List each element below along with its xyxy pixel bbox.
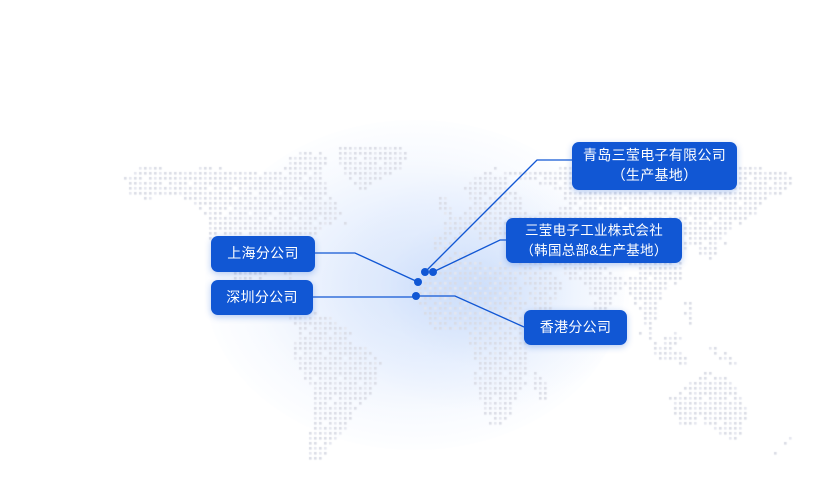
korea-label-line2: （韩国总部&生产基地） bbox=[520, 241, 667, 260]
korea-label-line1: 三莹电子工业株式会社 bbox=[525, 221, 663, 240]
shanghai-branch-label[interactable]: 上海分公司 bbox=[211, 236, 315, 272]
qingdao-label-line1: 青岛三莹电子有限公司 bbox=[583, 146, 726, 166]
hongkong-label-line1: 香港分公司 bbox=[540, 318, 612, 338]
korea-headquarters-label[interactable]: 三莹电子工业株式会社 （韩国总部&生产基地） bbox=[506, 218, 682, 263]
shenzhen-label-line1: 深圳分公司 bbox=[226, 288, 298, 308]
qingdao-office-label[interactable]: 青岛三莹电子有限公司 （生产基地） bbox=[572, 142, 737, 190]
hongkong-branch-label[interactable]: 香港分公司 bbox=[524, 310, 627, 345]
qingdao-label-line2: （生产基地） bbox=[612, 166, 698, 186]
connector-lines-layer bbox=[0, 0, 824, 480]
connector-shanghai bbox=[315, 253, 418, 282]
connector-korea bbox=[433, 240, 506, 272]
shenzhen-branch-label[interactable]: 深圳分公司 bbox=[211, 280, 313, 315]
shanghai-label-line1: 上海分公司 bbox=[227, 244, 299, 264]
connector-hongkong bbox=[416, 296, 524, 327]
world-map-office-locations: 青岛三莹电子有限公司 （生产基地） 三莹电子工业株式会社 （韩国总部&生产基地）… bbox=[0, 0, 824, 480]
